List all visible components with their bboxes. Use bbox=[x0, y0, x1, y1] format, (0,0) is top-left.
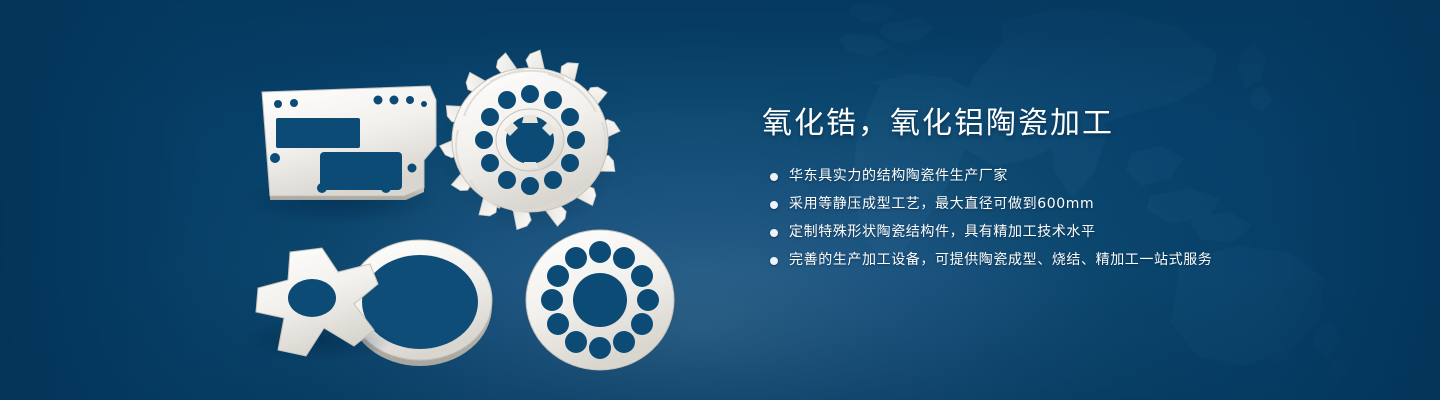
ceramic-products-image bbox=[0, 0, 760, 400]
banner-copy: 氧化锆，氧化铝陶瓷加工 华东具实力的结构陶瓷件生产厂家 采用等静压成型工艺，最大… bbox=[762, 104, 1382, 278]
list-item: 采用等静压成型工艺，最大直径可做到600mm bbox=[762, 194, 1382, 215]
list-item: 华东具实力的结构陶瓷件生产厂家 bbox=[762, 166, 1382, 187]
list-item: 定制特殊形状陶瓷结构件，具有精加工技术水平 bbox=[762, 222, 1382, 243]
list-item-label: 完善的生产加工设备，可提供陶瓷成型、烧结、精加工一站式服务 bbox=[789, 250, 1212, 271]
page-title: 氧化锆，氧化铝陶瓷加工 bbox=[762, 104, 1382, 144]
promo-banner: 氧化锆，氧化铝陶瓷加工 华东具实力的结构陶瓷件生产厂家 采用等静压成型工艺，最大… bbox=[0, 0, 1440, 400]
list-item-label: 采用等静压成型工艺，最大直径可做到600mm bbox=[789, 194, 1094, 215]
bullet-dot-icon bbox=[770, 201, 778, 209]
ceramic-impeller-disc bbox=[438, 50, 622, 236]
bullet-dot-icon bbox=[770, 229, 778, 237]
list-item: 完善的生产加工设备，可提供陶瓷成型、烧结、精加工一站式服务 bbox=[762, 250, 1382, 271]
list-item-label: 华东具实力的结构陶瓷件生产厂家 bbox=[789, 166, 1008, 187]
list-item-label: 定制特殊形状陶瓷结构件，具有精加工技术水平 bbox=[789, 222, 1096, 243]
bullet-dot-icon bbox=[770, 173, 778, 181]
feature-list: 华东具实力的结构陶瓷件生产厂家 采用等静压成型工艺，最大直径可做到600mm 定… bbox=[762, 166, 1382, 271]
bullet-dot-icon bbox=[770, 257, 778, 265]
ceramic-perforated-disc bbox=[522, 230, 678, 370]
ceramic-plate-with-cutouts bbox=[240, 86, 440, 226]
